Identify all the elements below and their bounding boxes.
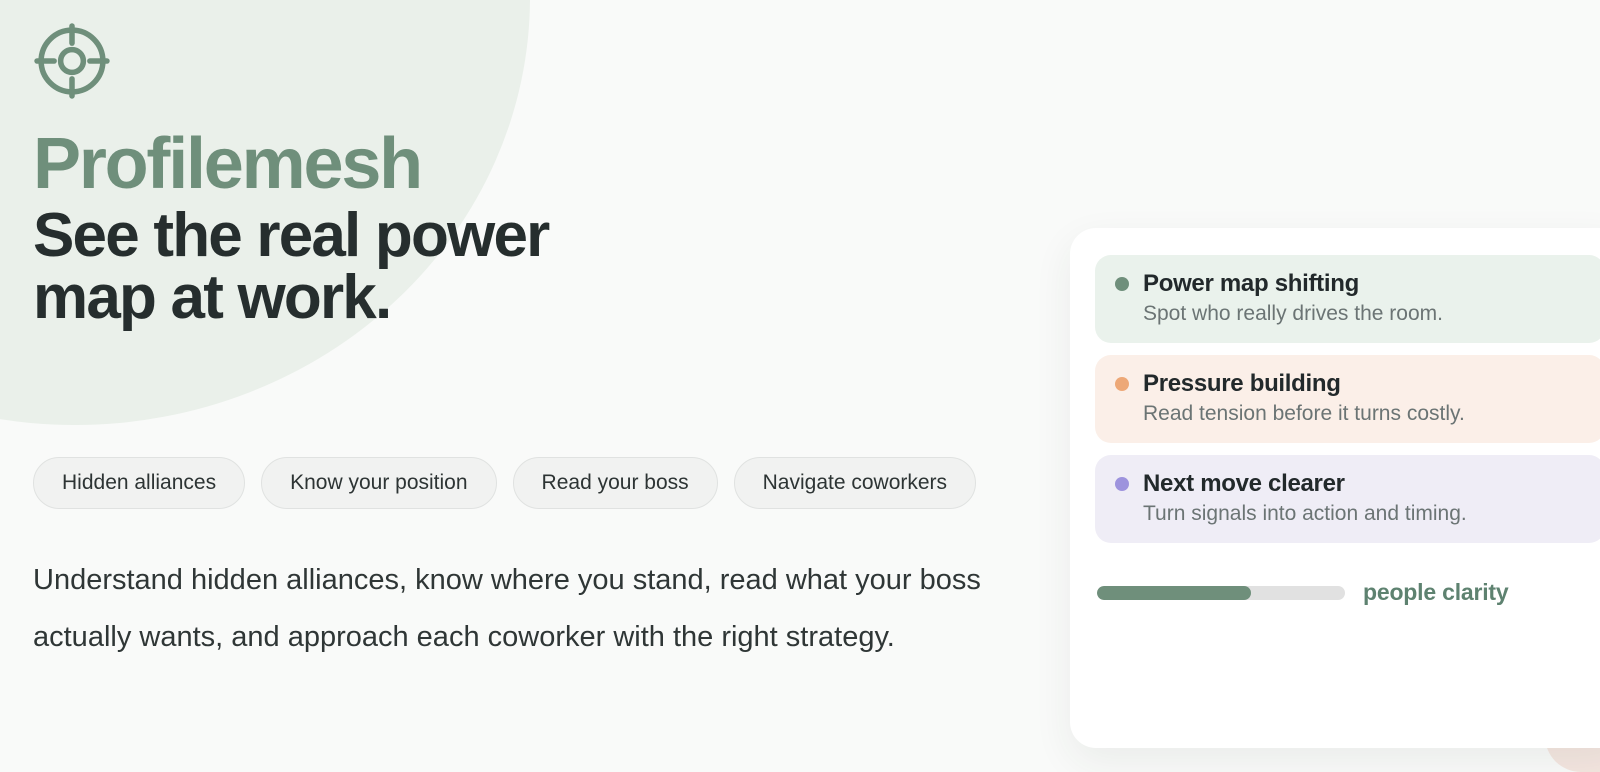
- signal-title: Pressure building: [1143, 370, 1341, 398]
- status-dot-orange: [1115, 377, 1129, 391]
- feature-pill-row: Hidden alliances Know your position Read…: [33, 457, 976, 509]
- pill-navigate-coworkers[interactable]: Navigate coworkers: [734, 457, 976, 509]
- signal-card-next-move-clearer[interactable]: Next move clearer Turn signals into acti…: [1095, 455, 1600, 543]
- signal-card-power-map-shifting[interactable]: Power map shifting Spot who really drive…: [1095, 255, 1600, 343]
- progress-fill: [1097, 586, 1251, 600]
- signal-header: Pressure building: [1115, 370, 1585, 398]
- pill-read-your-boss[interactable]: Read your boss: [513, 457, 718, 509]
- signal-card-pressure-building[interactable]: Pressure building Read tension before it…: [1095, 355, 1600, 443]
- brand-name: Profilemesh: [33, 130, 1043, 199]
- status-dot-green: [1115, 277, 1129, 291]
- signal-header: Power map shifting: [1115, 270, 1585, 298]
- pill-know-your-position[interactable]: Know your position: [261, 457, 496, 509]
- signal-title: Next move clearer: [1143, 470, 1345, 498]
- signal-subtitle: Read tension before it turns costly.: [1143, 402, 1585, 426]
- signals-panel: Power map shifting Spot who really drive…: [1070, 228, 1600, 748]
- headline-line-1: See the real power: [33, 201, 549, 270]
- signal-title: Power map shifting: [1143, 270, 1359, 298]
- people-clarity-meter: people clarity: [1095, 579, 1600, 606]
- hero-left-column: Profilemesh See the real power map at wo…: [33, 22, 1043, 329]
- signal-subtitle: Spot who really drives the room.: [1143, 302, 1585, 326]
- hero-paragraph: Understand hidden alliances, know where …: [33, 552, 983, 665]
- signal-subtitle: Turn signals into action and timing.: [1143, 502, 1585, 526]
- pill-hidden-alliances[interactable]: Hidden alliances: [33, 457, 245, 509]
- hero-section: Profilemesh See the real power map at wo…: [0, 0, 1600, 772]
- progress-track: [1097, 586, 1345, 600]
- headline-line-2: map at work.: [33, 263, 390, 332]
- progress-label: people clarity: [1363, 579, 1508, 606]
- crosshair-target-icon: [33, 22, 111, 100]
- signal-header: Next move clearer: [1115, 470, 1585, 498]
- page-title: See the real power map at work.: [33, 205, 793, 329]
- status-dot-purple: [1115, 477, 1129, 491]
